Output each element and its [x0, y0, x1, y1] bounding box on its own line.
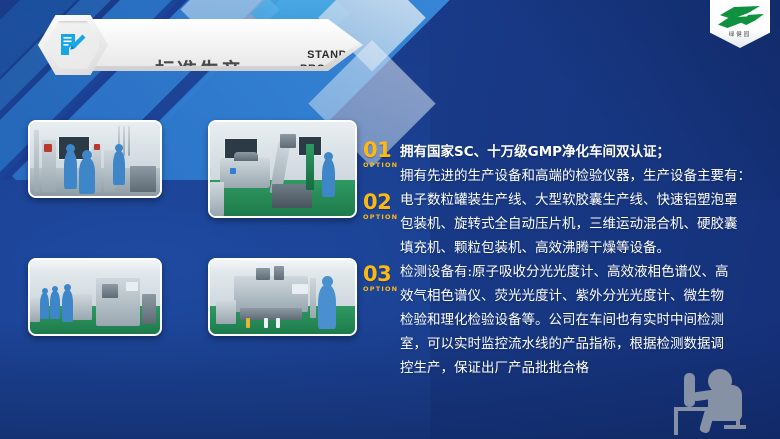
- content-line: 电子数粒罐装生产线、大型软胶囊生产线、快速铝塑泡罩: [400, 188, 772, 212]
- content-line: 拥有先进的生产设备和高端的检验仪器，生产设备主要有：: [400, 164, 772, 188]
- document-pencil-icon: [58, 32, 88, 59]
- content-line: 拥有国家SC、十万级GMP净化车间双认证；: [400, 140, 772, 164]
- content-line: 效气相色谱仪、荧光光度计、紫外分光光度计、微生物: [400, 284, 772, 308]
- photo-content: [210, 122, 355, 216]
- photo-filling-line[interactable]: [208, 258, 357, 336]
- section-header-banner: 标准生产 STANDARD PRODUCTION: [38, 15, 363, 75]
- content-line: 填充机、颗粒包装机、高效沸腾干燥等设备。: [400, 236, 772, 260]
- content-line: 检验和理化检验设备等。公司在车间也有实时中间检测: [400, 308, 772, 332]
- content-line: 室，可以实时监控流水线的产品指标，根据检测数据调: [400, 332, 772, 356]
- content-line: 检测设备有:原子吸收分光光度计、高效液相色谱仪、高: [400, 260, 772, 284]
- photo-granulation-equipment[interactable]: [208, 120, 357, 218]
- content-text-block: 拥有国家SC、十万级GMP净化车间双认证； 拥有先进的生产设备和高端的检验仪器，…: [400, 140, 772, 380]
- photo-content: [210, 260, 355, 334]
- company-logo: 绿健园: [710, 0, 770, 48]
- photo-content: [30, 122, 160, 196]
- content-line: 包装机、旋转式全自动压片机，三维运动混合机、硬胶囊: [400, 212, 772, 236]
- slide-root: 绿健园 标准生产 STANDARD PRODUCTION: [0, 0, 780, 439]
- photo-content: [30, 260, 160, 334]
- logo-characters: 绿健园: [710, 30, 770, 38]
- person-at-desk-icon: [662, 363, 758, 435]
- photo-bioreactor-cleanroom[interactable]: [28, 120, 162, 198]
- banner-plate-inner: 标准生产 STANDARD PRODUCTION: [77, 24, 356, 66]
- photo-packaging-line[interactable]: [28, 258, 162, 336]
